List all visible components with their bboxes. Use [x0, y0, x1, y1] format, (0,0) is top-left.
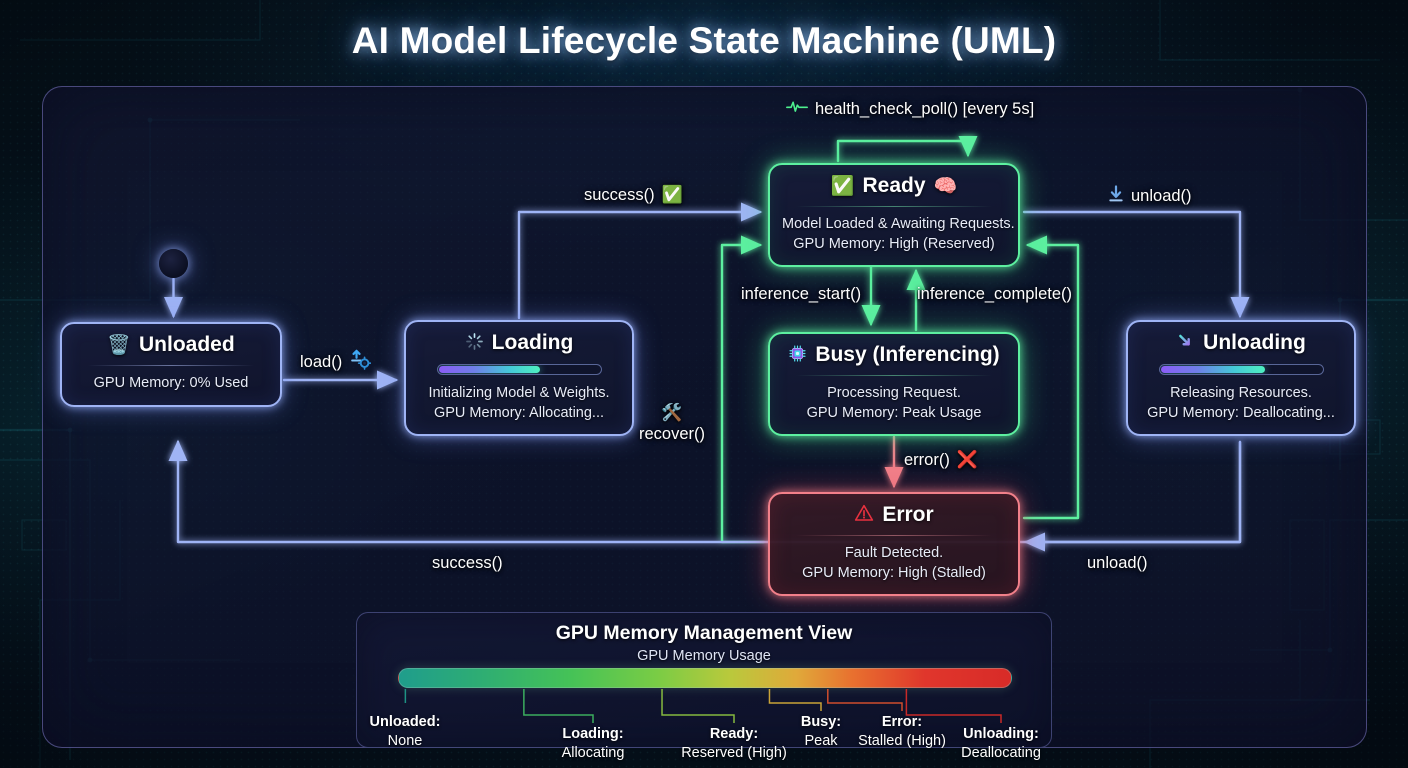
legend-tick-busy	[769, 689, 821, 711]
transition-label-success: success() ✅	[584, 185, 683, 205]
transition-label-text: health_check_poll() [every 5s]	[815, 100, 1034, 119]
transition-label-unload-from-error: unload()	[1087, 554, 1148, 573]
transition-label-health-check: health_check_poll() [every 5s]	[786, 99, 1034, 119]
download-arrow-icon	[1108, 185, 1124, 208]
transition-label-success-bottom: success()	[432, 554, 503, 573]
state-title-loading: Loading	[492, 331, 574, 355]
transition-label-text: success()	[584, 186, 655, 205]
legend-item-value: Allocating	[513, 744, 673, 763]
state-body-busy-line1: Processing Request.	[782, 384, 1006, 404]
legend-item-value: Deallocating	[921, 744, 1081, 763]
diagram-canvas: AI Model Lifecycle State Machine (UML)	[0, 0, 1408, 768]
state-body-unloaded-line1: GPU Memory: 0% Used	[74, 374, 268, 394]
transition-label-text: unload()	[1131, 187, 1192, 206]
transition-label-text: inference_complete()	[917, 285, 1072, 304]
state-body-unloading-line1: Releasing Resources.	[1140, 384, 1342, 404]
arrow-down-right-icon	[1176, 332, 1195, 355]
transition-label-recover: 🛠️ recover()	[639, 403, 705, 444]
cross-mark-icon: ❌	[957, 450, 978, 470]
state-header-unloading: Unloading	[1140, 331, 1342, 355]
state-body-busy-line2: GPU Memory: Peak Usage	[782, 404, 1006, 424]
legend-item-loading: Loading:Allocating	[513, 725, 673, 762]
state-title-ready: Ready	[862, 174, 925, 198]
transition-label-text: unload()	[1087, 554, 1148, 573]
state-header-ready: ✅ Ready 🧠	[782, 174, 1006, 198]
state-node-busy[interactable]: Busy (Inferencing) Processing Request. G…	[768, 332, 1020, 436]
state-header-busy: Busy (Inferencing)	[782, 343, 1006, 367]
gear-upload-icon	[349, 349, 371, 375]
state-title-busy: Busy (Inferencing)	[815, 343, 999, 367]
legend-item-key: Loading:	[513, 725, 673, 744]
state-body-ready-line2: GPU Memory: High (Reserved)	[782, 235, 1006, 255]
state-body-loading-line1: Initializing Model & Weights.	[418, 384, 620, 404]
progress-bar-fill	[1161, 366, 1266, 373]
transition-label-text: recover()	[639, 425, 705, 444]
state-title-unloaded: Unloaded	[139, 333, 235, 357]
gpu-memory-legend: GPU Memory Management View GPU Memory Us…	[356, 612, 1052, 748]
legend-tick-loading	[524, 689, 593, 723]
transition-label-inference-start: inference_start()	[741, 285, 861, 304]
legend-item-unloaded: Unloaded:None	[325, 713, 485, 750]
transition-label-unload-from-ready: unload()	[1108, 185, 1192, 208]
cpu-chip-icon	[788, 344, 807, 367]
trash-icon: 🗑️	[107, 336, 131, 355]
state-header-unloaded: 🗑️ Unloaded	[74, 333, 268, 357]
warning-triangle-icon	[854, 503, 874, 527]
transition-label-text: inference_start()	[741, 285, 861, 304]
transition-label-text: error()	[904, 451, 950, 470]
state-node-error[interactable]: Error Fault Detected. GPU Memory: High (…	[768, 492, 1020, 596]
legend-tick-ready	[662, 689, 734, 723]
legend-item-key: Unloading:	[921, 725, 1081, 744]
transition-label-load: load()	[300, 349, 371, 375]
divider	[796, 206, 992, 207]
progress-bar-loading	[437, 364, 602, 375]
transition-label-error: error() ❌	[904, 450, 978, 470]
state-body-error-line2: GPU Memory: High (Stalled)	[782, 564, 1006, 584]
spinner-icon	[465, 332, 484, 355]
edge-success-bottom	[178, 442, 1240, 542]
divider	[796, 535, 992, 536]
legend-tick-error	[828, 689, 902, 711]
edge-success	[519, 212, 760, 318]
transition-label-text: success()	[432, 554, 503, 573]
state-node-unloading[interactable]: Unloading Releasing Resources. GPU Memor…	[1126, 320, 1356, 436]
legend-item-key: Unloaded:	[325, 713, 485, 732]
brain-icon: 🧠	[934, 177, 958, 196]
state-title-unloading: Unloading	[1203, 331, 1306, 355]
legend-item-value: None	[325, 732, 485, 751]
state-body-error-line1: Fault Detected.	[782, 544, 1006, 564]
progress-bar-unloading	[1159, 364, 1324, 375]
state-node-ready[interactable]: ✅ Ready 🧠 Model Loaded & Awaiting Reques…	[768, 163, 1020, 267]
transition-label-inference-complete: inference_complete()	[917, 285, 1072, 304]
divider	[796, 375, 992, 376]
state-header-error: Error	[782, 503, 1006, 527]
edge-health-check	[838, 141, 968, 161]
state-body-loading-line2: GPU Memory: Allocating...	[418, 404, 620, 424]
transition-label-text: load()	[300, 353, 342, 372]
state-header-loading: Loading	[418, 331, 620, 355]
edge-unload-from-error	[1026, 442, 1240, 542]
progress-bar-fill	[439, 366, 540, 373]
pulse-icon	[786, 99, 808, 119]
tools-icon: 🛠️	[661, 403, 682, 423]
divider	[88, 365, 254, 366]
state-node-loading[interactable]: Loading Initializing Model & Weights. GP…	[404, 320, 634, 436]
check-circle-icon: ✅	[831, 177, 855, 196]
state-body-ready-line1: Model Loaded & Awaiting Requests.	[782, 215, 1006, 235]
state-node-unloaded[interactable]: 🗑️ Unloaded GPU Memory: 0% Used	[60, 322, 282, 407]
state-body-unloading-line2: GPU Memory: Deallocating...	[1140, 404, 1342, 424]
initial-state-node	[159, 249, 188, 278]
legend-item-unloading: Unloading:Deallocating	[921, 725, 1081, 762]
state-title-error: Error	[882, 503, 933, 527]
check-icon: ✅	[662, 185, 683, 205]
